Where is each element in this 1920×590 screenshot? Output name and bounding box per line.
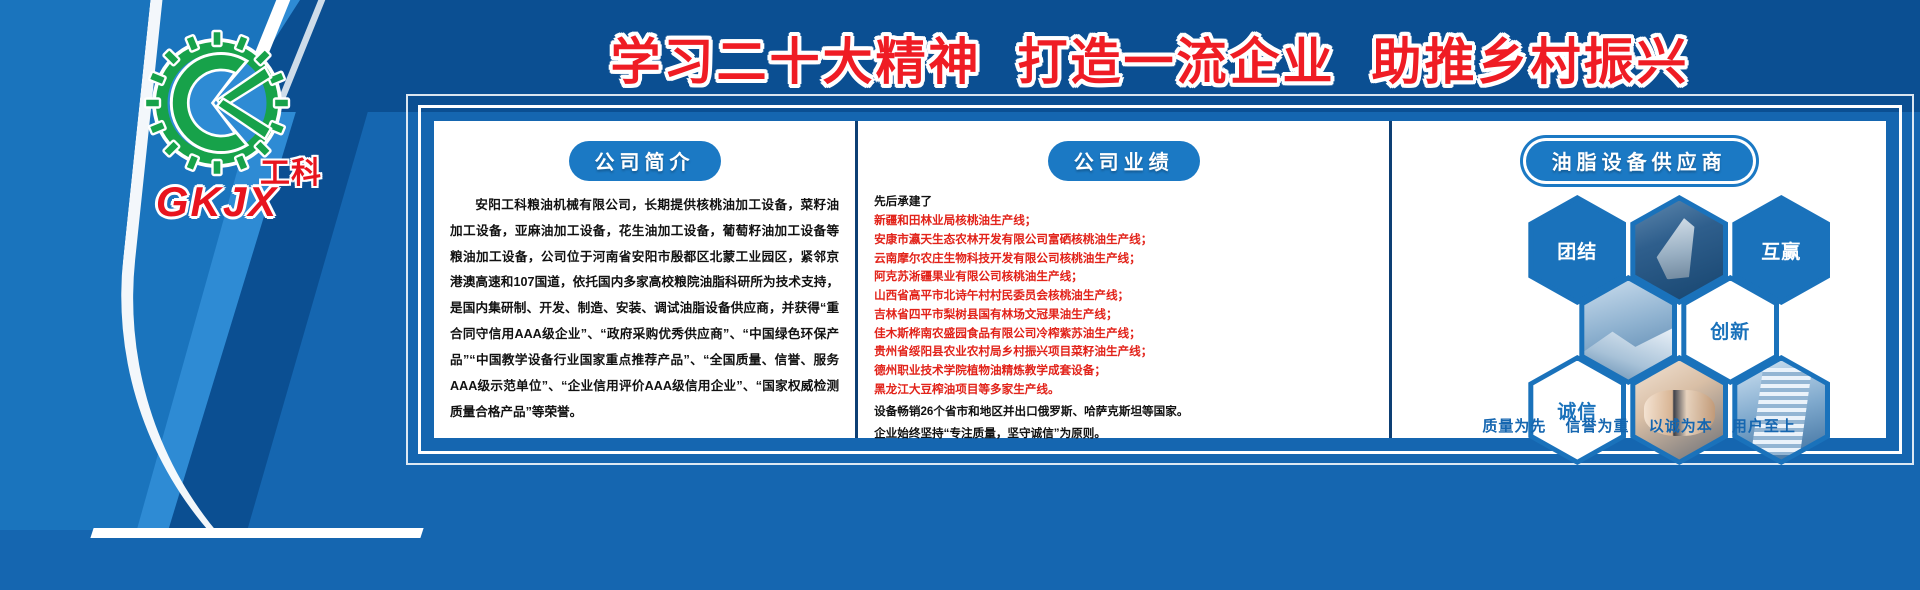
panel-supplier: 油脂设备供应商 团结 互赢 创新 — [1392, 121, 1886, 438]
footer-band — [0, 530, 1920, 590]
logo-name-en: GKJX — [112, 178, 322, 226]
panel-company-performance: 公司业绩 先后承建了 新疆和田林业局核桃油生产线；安康市瀛天生态农林开发有限公司… — [855, 121, 1392, 438]
performance-list: 新疆和田林业局核桃油生产线；安康市瀛天生态农林开发有限公司富硒核桃油生产线；云南… — [874, 212, 1373, 400]
slogan-part-1: 质量为先 — [1482, 418, 1546, 435]
slogan-part-2: 信誉为重 — [1566, 418, 1630, 435]
content-board: 公司简介 安阳工科粮油机械有限公司，长期提供核桃油加工设备，菜籽油加工设备，亚麻… — [425, 112, 1895, 447]
panel-title-company-profile: 公司简介 — [569, 141, 721, 181]
performance-list-item: 黑龙江大豆榨油项目等多家生产线。 — [874, 381, 1373, 400]
performance-list-item: 云南摩尔农庄生物科技开发有限公司核桃油生产线； — [874, 250, 1373, 269]
hex-label-tuanjie: 团结 — [1533, 201, 1621, 300]
performance-list-item: 吉林省四平市梨树县国有林场文冠果油生产线； — [874, 306, 1373, 325]
banner-title-part-1: 学习二十大精神 — [611, 34, 982, 90]
performance-list-item: 阿克苏淅疆果业有限公司核桃油生产线； — [874, 268, 1373, 287]
office-building-image — [1737, 361, 1825, 460]
values-hex-grid: 团结 互赢 创新 诚信 — [1408, 193, 1870, 418]
aircraft-carrier-image — [1635, 201, 1723, 300]
hex-label-huying: 互赢 — [1737, 201, 1825, 300]
performance-list-item: 德州职业技术学院植物油精炼教学成套设备； — [874, 362, 1373, 381]
performance-list-item: 佳木斯桦南农盛园食品有限公司冷榨紫苏油生产线； — [874, 325, 1373, 344]
company-logo: 工科 GKJX — [112, 28, 322, 208]
performance-list-item: 山西省高平市北诗午村村民委员会核桃油生产线； — [874, 287, 1373, 306]
panel-company-profile: 公司简介 安阳工科粮油机械有限公司，长期提供核桃油加工设备，菜籽油加工设备，亚麻… — [434, 121, 855, 438]
performance-lead: 先后承建了 — [874, 193, 1373, 211]
snow-mountain-image — [1584, 281, 1672, 380]
banner-title: 学习二十大精神打造一流企业助推乡村振兴 — [420, 22, 1880, 94]
panel-title-supplier: 油脂设备供应商 — [1526, 141, 1753, 181]
performance-list-item: 贵州省绥阳县农业农村局乡村振兴项目菜籽油生产线； — [874, 343, 1373, 362]
performance-list-item: 安康市瀛天生态农林开发有限公司富硒核桃油生产线； — [874, 231, 1373, 250]
supplier-slogan: 质量为先 信誉为重 以诚为本 用户至上 — [1392, 415, 1886, 436]
handshake-image — [1635, 361, 1723, 460]
company-profile-body: 安阳工科粮油机械有限公司，长期提供核桃油加工设备，菜籽油加工设备，亚麻油加工设备… — [450, 193, 839, 425]
slogan-part-4: 用户至上 — [1732, 418, 1796, 435]
slogan-part-3: 以诚为本 — [1649, 418, 1713, 435]
banner-title-part-3: 助推乡村振兴 — [1372, 34, 1690, 90]
footer-white-stripe — [90, 528, 423, 538]
hex-label-chuangxin: 创新 — [1686, 281, 1774, 380]
hex-label-chengxin: 诚信 — [1533, 361, 1621, 460]
performance-footer-2: 企业始终坚持“专注质量，坚守诚信”为原则。 — [874, 425, 1373, 444]
performance-footer-1: 设备畅销26个省市和地区并出口俄罗斯、哈萨克斯坦等国家。 — [874, 403, 1373, 422]
performance-list-item: 新疆和田林业局核桃油生产线； — [874, 212, 1373, 231]
panel-title-company-performance: 公司业绩 — [1048, 141, 1200, 181]
banner-title-part-2: 打造一流企业 — [1018, 34, 1336, 90]
poster-canvas: 工科 GKJX 学习二十大精神打造一流企业助推乡村振兴 公司简介 安阳工科粮油机… — [0, 0, 1920, 590]
